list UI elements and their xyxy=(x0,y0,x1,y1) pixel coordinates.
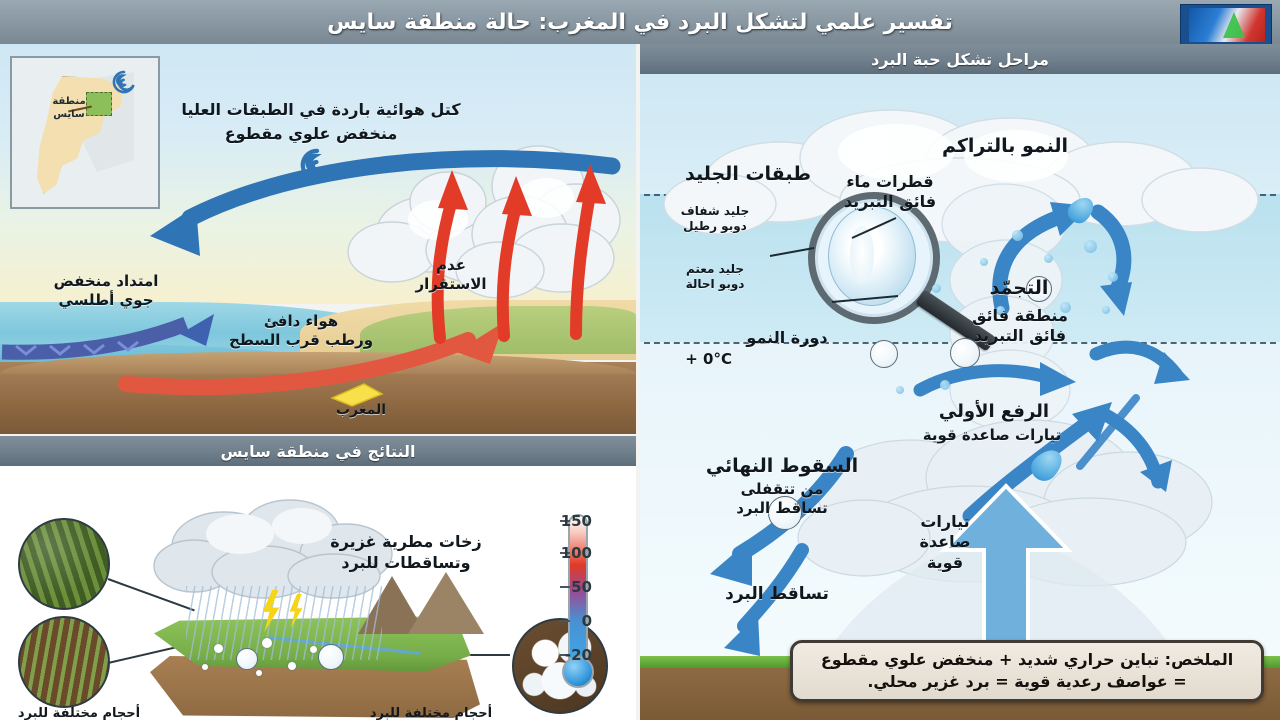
mini-droplet xyxy=(980,258,988,266)
cutoff-low-swirl-icon xyxy=(298,148,336,182)
label-clear-ice: جليد شفاف دوبو رطيل xyxy=(650,204,780,235)
label-morocco: المغرب xyxy=(316,402,406,420)
label-supercooled-zone-line2: فائق التبريد xyxy=(940,326,1100,346)
label-zero-degree: + 0°C xyxy=(652,350,732,369)
mini-droplet xyxy=(1044,254,1053,263)
label-final-fall-sub: من تتقفلى تساقط البرد xyxy=(692,480,872,518)
label-updraft-line2: صاعدة xyxy=(900,532,990,552)
hail-particle xyxy=(202,664,208,670)
mini-droplet xyxy=(1012,230,1023,241)
thermometer-tick-50: 50 xyxy=(546,578,592,596)
hail-particle xyxy=(262,638,272,648)
mini-droplet xyxy=(940,380,950,390)
hailstone-core xyxy=(850,226,874,284)
label-initial-lift: الرفع الأولي xyxy=(904,400,1084,423)
label-updraft-line1: تيارات xyxy=(900,512,990,532)
label-heavy-showers-line1: زخات مطرية غزيرة xyxy=(316,532,496,553)
summary-box: الملخص: تباين حراري شديد + منخفض علوي مق… xyxy=(790,640,1264,702)
label-atlantic-low-line1: امتداد منخفض xyxy=(16,272,196,291)
label-atlantic-low-line2: جوي أطلسي xyxy=(16,291,196,310)
page-title: تفسير علمي لتشكل البرد في المغرب: حالة م… xyxy=(327,10,953,35)
label-warm-moist-air: هواء دافئ ورطب قرب السطح xyxy=(206,312,396,350)
label-growth-cycle: دورة النمو xyxy=(722,328,852,348)
label-accretion-growth: النمو بالتراكم xyxy=(900,134,1110,158)
mini-droplet xyxy=(1108,272,1118,282)
panel-results-body: زخات مطرية غزيرة وتساقطات للبرد أحجام مخ… xyxy=(0,466,636,720)
label-warm-moist-line2: ورطب قرب السطح xyxy=(206,331,396,350)
mini-droplet xyxy=(896,386,904,394)
label-final-fall-sub-line1: من تتقفلى xyxy=(692,480,872,499)
summary-line2: = عواصف رعدية قوية = برد غزير محلي. xyxy=(821,671,1233,693)
map-zone-label-line2: سايس xyxy=(38,109,100,122)
label-heavy-showers-line2: وتساقطات للبرد xyxy=(316,553,496,574)
thermometer-tick-100: 100 xyxy=(546,544,592,562)
label-freezing: التجمّد xyxy=(954,276,1084,300)
label-strong-updraft: تيارات صاعدة قوية xyxy=(892,426,1092,445)
label-cutoff-low: منخفض علوي مقطوع xyxy=(186,124,436,144)
label-supercooled-drops-line2: فائق التبريد xyxy=(810,192,970,212)
photo-damaged-crop-1 xyxy=(18,518,110,610)
thermometer-tick-0: 0 xyxy=(546,612,592,630)
label-supercooled-zone: منطقة فائق فائق التبريد xyxy=(940,306,1100,347)
hailstone-mid-3 xyxy=(870,340,898,368)
hail-particle xyxy=(256,670,262,676)
logo-flag-icon xyxy=(1189,8,1265,42)
label-cold-air-masses: كتل هوائية باردة في الطبقات العليا xyxy=(166,100,476,120)
thermometer-tick-minus20: -20 xyxy=(546,646,592,664)
title-bar: تفسير علمي لتشكل البرد في المغرب: حالة م… xyxy=(0,0,1280,44)
thermometer-tick-150: 150 xyxy=(546,512,592,530)
hail-particle xyxy=(288,662,296,670)
label-crop-damage: أحجام مختلفة للبرد xyxy=(4,706,154,720)
hail-particle xyxy=(310,646,317,653)
label-ice-layers: طبقات الجليد xyxy=(658,162,838,186)
summary-line1: الملخص: تباين حراري شديد + منخفض علوي مق… xyxy=(821,649,1233,671)
label-final-fall: السقوط النهائي xyxy=(692,454,872,478)
label-heavy-showers: زخات مطرية غزيرة وتساقطات للبرد xyxy=(316,532,496,574)
cyclone-swirl-icon xyxy=(112,70,136,94)
morocco-inset-map: منطقة سايس xyxy=(10,56,160,209)
mini-droplet xyxy=(1084,240,1097,253)
panel-results-heading: النتائج في منطقة سايس xyxy=(0,436,636,466)
label-instability: عدم الاستقرار xyxy=(396,256,506,294)
panel-synoptic: منطقة سايس xyxy=(0,44,636,434)
leader-line-crop-1 xyxy=(108,578,195,611)
label-opaque-ice: جليد معتم دوبو احالة xyxy=(650,262,780,293)
hailstone-callout-small xyxy=(236,648,258,670)
label-clear-ice-line2: دوبو رطيل xyxy=(650,219,780,234)
mini-droplet xyxy=(1102,306,1110,314)
mountain-peak-2 xyxy=(408,572,484,634)
label-final-fall-sub-line2: تساقط البرد xyxy=(692,499,872,518)
photo-damaged-crop-2 xyxy=(18,616,110,708)
label-instability-line2: الاستقرار xyxy=(396,275,506,294)
hail-particle xyxy=(214,644,223,653)
panel-stages-heading: مراحل تشكل حبة البرد xyxy=(640,44,1280,74)
label-opaque-ice-line2: دوبو احالة xyxy=(650,277,780,292)
ground-cross-section xyxy=(0,362,636,434)
label-supercooled-zone-line1: منطقة فائق xyxy=(940,306,1100,326)
label-updraft-currents: تيارات صاعدة قوية xyxy=(900,512,990,573)
map-zone-label-line1: منطقة xyxy=(38,96,100,109)
map-zone-label: منطقة سايس xyxy=(38,96,100,121)
label-opaque-ice-line1: جليد معتم xyxy=(650,262,780,277)
label-instability-line1: عدم xyxy=(396,256,506,275)
panel-results: النتائج في منطقة سايس xyxy=(0,436,636,720)
hailstone-callout-large xyxy=(318,644,344,670)
label-clear-ice-line1: جليد شفاف xyxy=(650,204,780,219)
panel-hailstone-stages: مراحل تشكل حبة البرد xyxy=(640,44,1280,720)
summary-text: الملخص: تباين حراري شديد + منخفض علوي مق… xyxy=(811,649,1243,692)
mini-droplet xyxy=(932,284,941,293)
label-hail-fall: تساقط البرد xyxy=(682,584,872,606)
label-atlantic-low: امتداد منخفض جوي أطلسي xyxy=(16,272,196,310)
infographic-root: تفسير علمي لتشكل البرد في المغرب: حالة م… xyxy=(0,0,1280,720)
thermometer-results: 150 100 50 0 -20 xyxy=(538,514,618,694)
label-updraft-line3: قوية xyxy=(900,553,990,573)
label-hail-sizes: أحجام مختلفة للبرد xyxy=(356,706,506,720)
label-warm-moist-line1: هواء دافئ xyxy=(206,312,396,331)
